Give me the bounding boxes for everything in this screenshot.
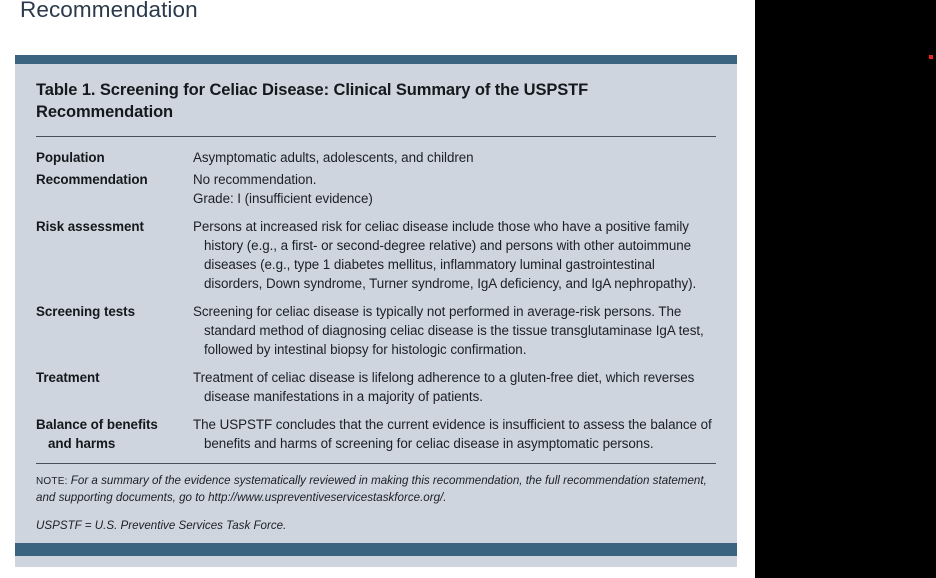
- page-title: Recommendation: [20, 0, 198, 23]
- row-body: Persons at increased risk for celiac dis…: [193, 217, 716, 293]
- table-row: Screening tests Screening for celiac dis…: [36, 302, 716, 359]
- table-title-divider: [36, 136, 716, 137]
- row-label: Recommendation: [36, 170, 193, 189]
- row-label-line2: and harms: [36, 434, 193, 453]
- black-side-panel: [755, 0, 936, 578]
- row-body-line: Screening for celiac disease is typicall…: [193, 302, 716, 359]
- red-marker-dot: [929, 55, 933, 59]
- table-note: NOTE: For a summary of the evidence syst…: [36, 473, 716, 507]
- row-body-line: Treatment of celiac disease is lifelong …: [193, 368, 716, 406]
- row-body: The USPSTF concludes that the current ev…: [193, 415, 716, 453]
- table-row: Risk assessment Persons at increased ris…: [36, 217, 716, 293]
- row-label: Treatment: [36, 368, 193, 387]
- table-caption: Table 1. Screening for Celiac Disease: C…: [36, 64, 716, 124]
- row-body: Treatment of celiac disease is lifelong …: [193, 368, 716, 406]
- table-row: Balance of benefits and harms The USPSTF…: [36, 415, 716, 453]
- table-panel: Table 1. Screening for Celiac Disease: C…: [15, 55, 737, 567]
- note-text: For a summary of the evidence systematic…: [36, 474, 707, 504]
- row-body-line: The USPSTF concludes that the current ev…: [193, 415, 716, 453]
- row-label: Screening tests: [36, 302, 193, 321]
- row-label-line1: Balance of benefits: [36, 417, 158, 432]
- row-body-line: Persons at increased risk for celiac dis…: [193, 217, 716, 293]
- row-body: Screening for celiac disease is typicall…: [193, 302, 716, 359]
- row-label: Population: [36, 148, 193, 167]
- table-note-divider: [36, 463, 716, 464]
- row-label: Risk assessment: [36, 217, 193, 236]
- table-rows: Population Asymptomatic adults, adolesce…: [36, 148, 716, 453]
- table-content: Table 1. Screening for Celiac Disease: C…: [15, 64, 737, 535]
- table-bottom-rule-bar: [15, 543, 737, 556]
- row-body-line: No recommendation.: [193, 170, 716, 189]
- table-row: Treatment Treatment of celiac disease is…: [36, 368, 716, 406]
- table-row: Population Asymptomatic adults, adolesce…: [36, 148, 716, 167]
- row-body: Asymptomatic adults, adolescents, and ch…: [193, 148, 716, 167]
- row-body-line: Asymptomatic adults, adolescents, and ch…: [193, 148, 716, 167]
- note-label: NOTE:: [36, 476, 68, 487]
- table-row: Recommendation No recommendation. Grade:…: [36, 170, 716, 208]
- row-body: No recommendation. Grade: I (insufficien…: [193, 170, 716, 208]
- table-top-rule-bar: [15, 55, 737, 64]
- row-label: Balance of benefits and harms: [36, 415, 193, 453]
- abbreviation-note: USPSTF = U.S. Preventive Services Task F…: [36, 518, 716, 535]
- row-body-line: Grade: I (insufficient evidence): [193, 189, 716, 208]
